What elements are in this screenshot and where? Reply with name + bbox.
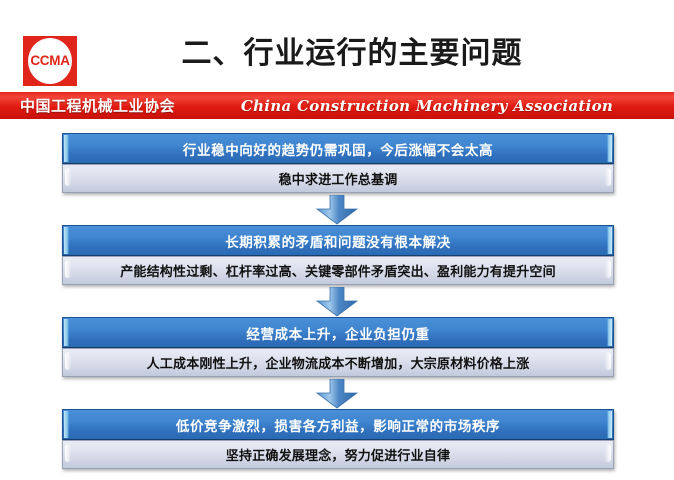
bar-right-highlight bbox=[607, 227, 612, 254]
down-arrow-icon-3 bbox=[316, 379, 358, 409]
flow-block-2-subtitle[interactable]: 产能结构性过剩、杠杆率过高、关键零部件矛盾突出、盈利能力有提升空间 bbox=[62, 256, 614, 285]
flow-block-4: 低价竞争激烈，损害各方利益，影响正常的市场秩序 坚持正确发展理念，努力促进行业自… bbox=[62, 409, 614, 469]
flow-block-3-subtitle-label: 人工成本刚性上升，企业物流成本不断增加，大宗原材料价格上涨 bbox=[147, 353, 530, 372]
flow-block-4-headline[interactable]: 低价竞争激烈，损害各方利益，影响正常的市场秩序 bbox=[62, 409, 614, 440]
slide-header: CCMA 二、行业运行的主要问题 bbox=[0, 0, 674, 92]
down-arrow-glyph bbox=[316, 195, 358, 225]
bar-left-highlight bbox=[65, 260, 71, 278]
page-title: 二、行业运行的主要问题 bbox=[0, 36, 674, 72]
bar-left-highlight bbox=[64, 135, 69, 162]
flow-block-2-headline[interactable]: 长期积累的矛盾和问题没有根本解决 bbox=[62, 225, 614, 256]
down-arrow-icon-2 bbox=[316, 287, 358, 317]
bar-right-highlight bbox=[605, 168, 611, 186]
bar-left-highlight bbox=[64, 319, 69, 346]
bar-right-highlight bbox=[605, 444, 611, 462]
bar-left-highlight bbox=[65, 168, 71, 186]
down-arrow-glyph bbox=[316, 379, 358, 409]
flow-block-2: 长期积累的矛盾和问题没有根本解决 产能结构性过剩、杠杆率过高、关键零部件矛盾突出… bbox=[62, 225, 614, 285]
flow-block-1-headline-label: 行业稳中向好的趋势仍需巩固，今后涨幅不会太高 bbox=[183, 139, 493, 159]
bar-left-highlight bbox=[65, 444, 71, 462]
flow-block-1: 行业稳中向好的趋势仍需巩固，今后涨幅不会太高 稳中求进工作总基调 bbox=[62, 133, 614, 193]
bar-right-highlight bbox=[607, 135, 612, 162]
banner-name-english: China Construction Machinery Association bbox=[0, 97, 674, 115]
bar-right-highlight bbox=[605, 260, 611, 278]
flow-block-4-subtitle-label: 坚持正确发展理念，努力促进行业自律 bbox=[226, 445, 450, 464]
flow-block-3-headline-label: 经营成本上升，企业负担仍重 bbox=[246, 323, 429, 343]
flow-block-4-headline-label: 低价竞争激烈，损害各方利益，影响正常的市场秩序 bbox=[176, 415, 500, 435]
flow-block-1-subtitle-label: 稳中求进工作总基调 bbox=[279, 169, 398, 188]
bar-right-highlight bbox=[605, 352, 611, 370]
bar-left-highlight bbox=[64, 411, 69, 438]
flow-block-2-headline-label: 长期积累的矛盾和问题没有根本解决 bbox=[225, 231, 451, 251]
flow-block-2-subtitle-label: 产能结构性过剩、杠杆率过高、关键零部件矛盾突出、盈利能力有提升空间 bbox=[120, 261, 556, 280]
bar-left-highlight bbox=[65, 352, 71, 370]
down-arrow-icon-1 bbox=[316, 195, 358, 225]
flow-block-3: 经营成本上升，企业负担仍重 人工成本刚性上升，企业物流成本不断增加，大宗原材料价… bbox=[62, 317, 614, 377]
flow-block-1-headline[interactable]: 行业稳中向好的趋势仍需巩固，今后涨幅不会太高 bbox=[62, 133, 614, 164]
flow-block-4-subtitle[interactable]: 坚持正确发展理念，努力促进行业自律 bbox=[62, 440, 614, 469]
bar-right-highlight bbox=[607, 319, 612, 346]
association-banner: 中国工程机械工业协会 China Construction Machinery … bbox=[0, 92, 674, 119]
bar-right-highlight bbox=[607, 411, 612, 438]
flow-block-1-subtitle[interactable]: 稳中求进工作总基调 bbox=[62, 164, 614, 193]
bar-left-highlight bbox=[64, 227, 69, 254]
flow-diagram: 行业稳中向好的趋势仍需巩固，今后涨幅不会太高 稳中求进工作总基调 bbox=[0, 119, 674, 480]
slide-canvas: CCMA 二、行业运行的主要问题 中国工程机械工业协会 China Constr… bbox=[0, 0, 674, 480]
flow-block-3-headline[interactable]: 经营成本上升，企业负担仍重 bbox=[62, 317, 614, 348]
down-arrow-glyph bbox=[316, 287, 358, 317]
flow-block-3-subtitle[interactable]: 人工成本刚性上升，企业物流成本不断增加，大宗原材料价格上涨 bbox=[62, 348, 614, 377]
